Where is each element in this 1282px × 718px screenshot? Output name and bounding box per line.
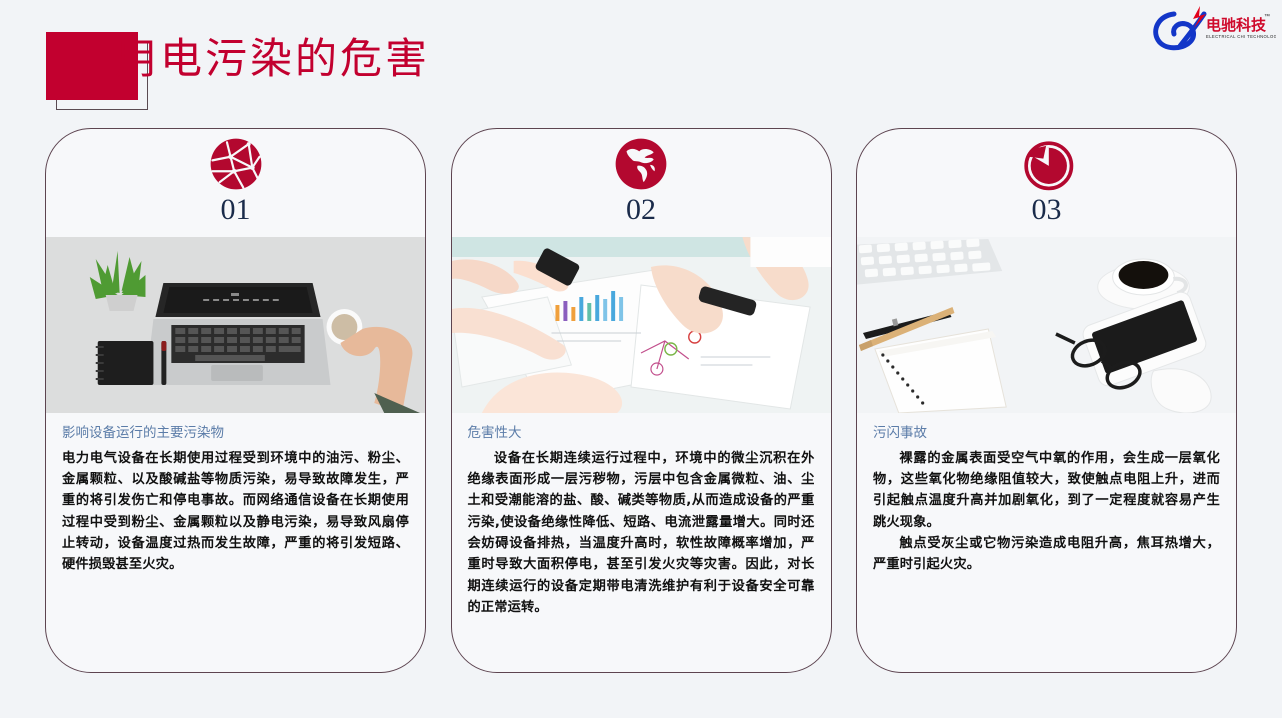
page-title: 用电污染的危害 [115,38,430,80]
card-02-image [452,237,831,413]
pie-chart-icon [1018,135,1076,193]
svg-text:电驰科技: 电驰科技 [1206,16,1267,34]
company-logo: 电驰科技 ELECTRICAL CHI TECHNOLOGY ™ [1144,2,1276,58]
logo-graphic: 电驰科技 ELECTRICAL CHI TECHNOLOGY ™ [1144,2,1276,58]
card-02-paragraph-1: 设备在长期连续运行过程中，环境中的微尘沉积在外绝缘表面形成一层污秽物，污层中包含… [468,448,815,619]
card-02[interactable]: 02 [451,128,832,673]
svg-text:™: ™ [1264,13,1270,20]
card-03-number: 03 [1032,195,1062,225]
card-03[interactable]: 03 [856,128,1237,673]
card-03-subtitle: 污闪事故 [873,425,1220,443]
globe-icon [612,135,670,193]
card-03-paragraph-1: 裸露的金属表面受空气中氧的作用，会生成一层氧化物，这些氧化物绝缘阻值较大，致使触… [873,448,1220,534]
card-03-header: 03 [857,129,1236,237]
card-01-subtitle: 影响设备运行的主要污染物 [62,425,409,443]
card-01-body: 影响设备运行的主要污染物 电力电气设备在长期使用过程受到环境中的油污、粉尘、金属… [46,413,425,672]
network-mesh-icon [207,135,265,193]
card-01-paragraph-1: 电力电气设备在长期使用过程受到环境中的油污、粉尘、金属颗粒、以及酸碱盐等物质污染… [62,448,409,576]
card-03-body: 污闪事故 裸露的金属表面受空气中氧的作用，会生成一层氧化物，这些氧化物绝缘阻值较… [857,413,1236,672]
meeting-hands-illustration [452,237,831,413]
card-01-number: 01 [221,195,251,225]
cards-row: 01 [45,128,1237,673]
card-03-image [857,237,1236,413]
card-02-header: 02 [452,129,831,237]
card-02-number: 02 [626,195,656,225]
desk-flatlay-illustration [46,237,425,413]
slide-canvas: 电驰科技 ELECTRICAL CHI TECHNOLOGY ™ 用电污染的危害 [0,0,1282,718]
card-01-header: 01 [46,129,425,237]
card-01-image [46,237,425,413]
card-01[interactable]: 01 [45,128,426,673]
card-02-subtitle: 危害性大 [468,425,815,443]
card-02-body: 危害性大 设备在长期连续运行过程中，环境中的微尘沉积在外绝缘表面形成一层污秽物，… [452,413,831,672]
white-desk-illustration [857,237,1236,413]
card-03-paragraph-2: 触点受灰尘或它物污染造成电阻升高，焦耳热增大，严重时引起火灾。 [873,533,1220,576]
svg-text:ELECTRICAL CHI TECHNOLOGY: ELECTRICAL CHI TECHNOLOGY [1206,34,1276,39]
